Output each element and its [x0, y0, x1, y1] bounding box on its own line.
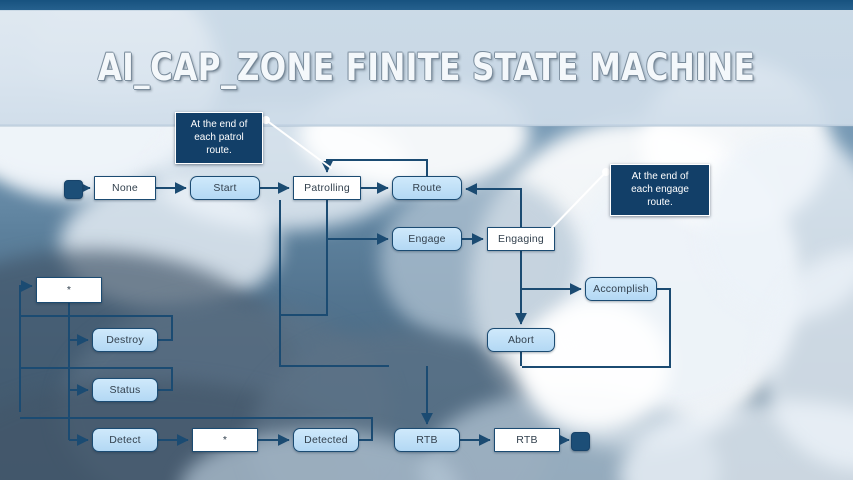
leader-dot-patrol [263, 117, 269, 123]
leader-line-engage [551, 172, 606, 229]
callout-line-2: each patrol route. [183, 131, 255, 157]
callout-line-2: each engage route. [618, 183, 702, 209]
callout-patrol-route[interactable]: At the end of each patrol route. [175, 112, 263, 164]
slide-canvas: AI_CAP_ZONE FINITE STATE MACHINE [0, 0, 853, 480]
callout-line-1: At the end of [632, 171, 689, 182]
callout-line-1: At the end of [191, 119, 248, 130]
callout-leader-layer [0, 0, 853, 480]
leader-line-patrol [266, 120, 331, 168]
leader-dot-engage [603, 169, 609, 175]
callout-engage-route[interactable]: At the end of each engage route. [610, 164, 710, 216]
